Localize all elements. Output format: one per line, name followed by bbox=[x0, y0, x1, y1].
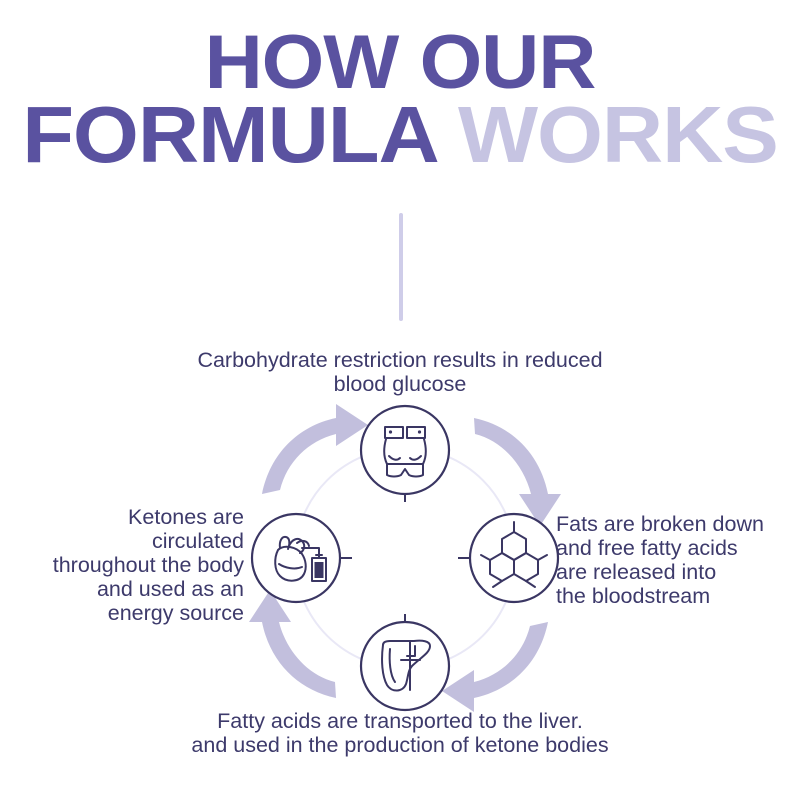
arrow-right-to-bottom bbox=[442, 622, 548, 712]
cycle-node-heart[interactable] bbox=[252, 514, 352, 602]
title-word-works: WORKS bbox=[458, 90, 778, 179]
vertical-divider bbox=[399, 213, 403, 321]
cycle-diagram bbox=[240, 398, 570, 720]
title-line-2: FORMULA WORKS bbox=[0, 98, 800, 172]
arrow-left-to-top bbox=[262, 404, 368, 494]
caption-right-fats: Fats are broken down and free fatty acid… bbox=[556, 512, 800, 608]
arrow-top-to-right bbox=[474, 418, 561, 526]
cycle-node-molecule[interactable] bbox=[458, 514, 558, 602]
node-circle-bottom bbox=[361, 622, 449, 710]
cycle-node-torso[interactable] bbox=[361, 406, 449, 502]
cycle-node-liver[interactable] bbox=[361, 614, 449, 710]
page-title: HOW OUR FORMULA WORKS bbox=[0, 28, 800, 172]
node-circle-top bbox=[361, 406, 449, 494]
title-line-1: HOW OUR bbox=[0, 28, 800, 98]
caption-top-carbohydrate: Carbohydrate restriction results in redu… bbox=[0, 348, 800, 396]
arrow-bottom-to-left bbox=[249, 590, 336, 698]
caption-left-ketones: Ketones are circulated throughout the bo… bbox=[0, 505, 244, 625]
title-word-formula: FORMULA bbox=[22, 90, 458, 179]
infographic-page: HOW OUR FORMULA WORKS Carbohydrate restr… bbox=[0, 0, 800, 800]
